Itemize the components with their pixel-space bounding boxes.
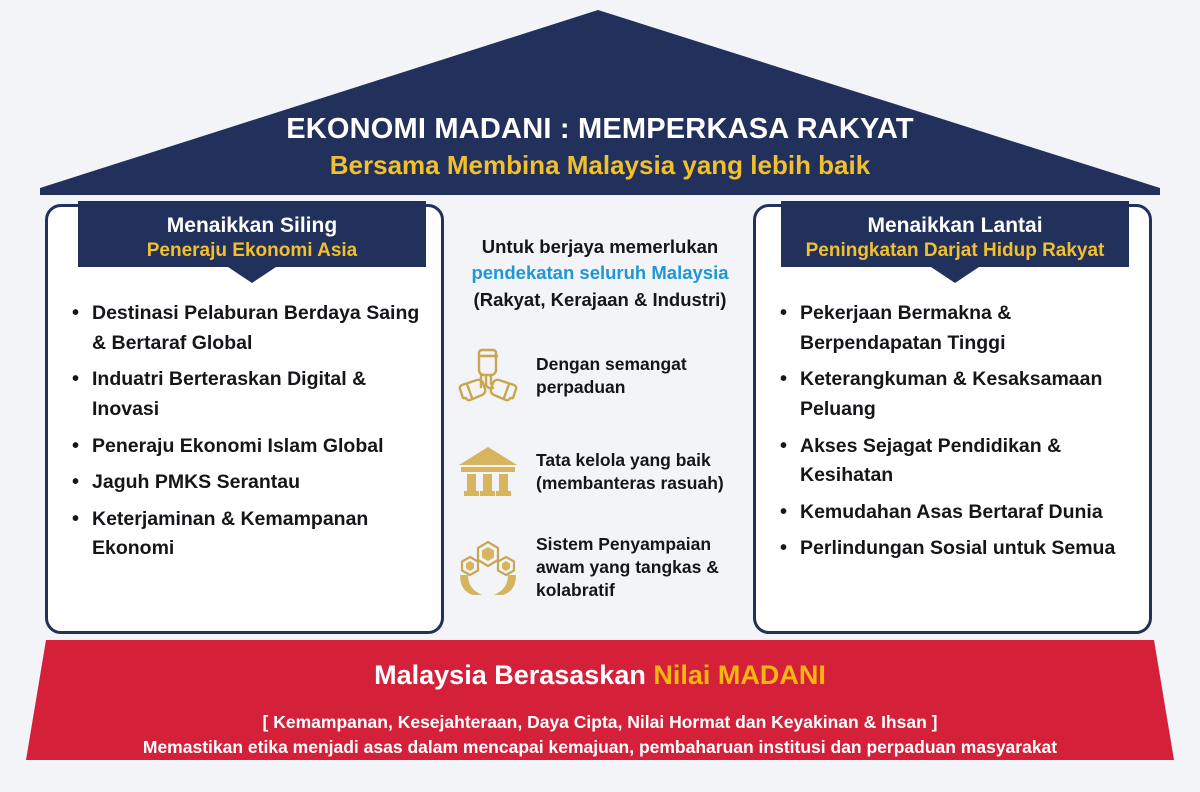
left-panel-list: Destinasi Pelaburan Berdaya Saing & Bert… xyxy=(70,299,433,571)
footer-banner: Malaysia Berasaskan Nilai MADANI [ Kemam… xyxy=(0,640,1200,792)
footer-values-line: [ Kemampanan, Kesejahteraan, Daya Cipta,… xyxy=(0,710,1200,735)
right-ribbon-subtitle: Peningkatan Darjat Hidup Rakyat xyxy=(781,239,1129,264)
left-ribbon-text: Menaikkan Siling Peneraju Ekonomi Asia xyxy=(78,213,426,264)
center-intro-line1: Untuk berjaya memerlukan xyxy=(452,234,748,260)
left-ribbon-title: Menaikkan Siling xyxy=(78,213,426,239)
list-item: Keterangkuman & Kesaksamaan Peluang xyxy=(778,365,1141,424)
roof-banner: EKONOMI MADANI : MEMPERKASA RAKYAT Bersa… xyxy=(0,0,1200,200)
hands-holding-hexagons-icon xyxy=(452,533,524,603)
right-ribbon: Menaikkan Lantai Peningkatan Darjat Hidu… xyxy=(781,201,1129,285)
center-item-label: Tata kelola yang baik (membanteras rasua… xyxy=(536,449,748,496)
center-item-perpaduan: Dengan semangat perpaduan xyxy=(452,339,748,413)
list-item: Akses Sejagat Pendidikan & Kesihatan xyxy=(778,432,1141,491)
center-items-list: Dengan semangat perpaduan Tata ke xyxy=(452,339,748,605)
center-intro-line2: pendekatan seluruh Malaysia xyxy=(452,260,748,286)
center-column: Untuk berjaya memerlukan pendekatan selu… xyxy=(452,234,748,627)
joined-hands-icon xyxy=(452,341,524,411)
list-item: Pekerjaan Bermakna & Berpendapatan Tingg… xyxy=(778,299,1141,358)
footer-title-plain: Malaysia Berasaskan xyxy=(374,660,653,690)
right-ribbon-text: Menaikkan Lantai Peningkatan Darjat Hidu… xyxy=(781,213,1129,264)
left-ribbon: Menaikkan Siling Peneraju Ekonomi Asia xyxy=(78,201,426,285)
list-item: Peneraju Ekonomi Islam Global xyxy=(70,432,433,462)
roof-shape xyxy=(0,0,1200,200)
center-item-sistem-penyampaian: Sistem Penyampaian awam yang tangkas & k… xyxy=(452,531,748,605)
list-item: Jaguh PMKS Serantau xyxy=(70,468,433,498)
infographic-poster: EKONOMI MADANI : MEMPERKASA RAKYAT Bersa… xyxy=(0,0,1200,792)
left-ribbon-subtitle: Peneraju Ekonomi Asia xyxy=(78,239,426,264)
list-item: Induatri Berteraskan Digital & Inovasi xyxy=(70,365,433,424)
footer-title-gold: Nilai MADANI xyxy=(653,660,826,690)
list-item: Kemudahan Asas Bertaraf Dunia xyxy=(778,498,1141,528)
list-item: Perlindungan Sosial untuk Semua xyxy=(778,534,1141,564)
right-panel-list: Pekerjaan Bermakna & Berpendapatan Tingg… xyxy=(778,299,1141,571)
list-item: Keterjaminan & Kemampanan Ekonomi xyxy=(70,505,433,564)
footer-text-block: Malaysia Berasaskan Nilai MADANI [ Kemam… xyxy=(0,658,1200,761)
list-item: Destinasi Pelaburan Berdaya Saing & Bert… xyxy=(70,299,433,358)
center-intro-line3: (Rakyat, Kerajaan & Industri) xyxy=(452,287,748,313)
center-intro-text: Untuk berjaya memerlukan pendekatan selu… xyxy=(452,234,748,313)
right-ribbon-title: Menaikkan Lantai xyxy=(781,213,1129,239)
footer-statement-line: Memastikan etika menjadi asas dalam menc… xyxy=(0,735,1200,760)
center-item-label: Dengan semangat perpaduan xyxy=(536,353,748,400)
center-item-label: Sistem Penyampaian awam yang tangkas & k… xyxy=(536,533,748,603)
panel-menaikkan-lantai: Menaikkan Lantai Peningkatan Darjat Hidu… xyxy=(753,204,1152,634)
center-item-tata-kelola: Tata kelola yang baik (membanteras rasua… xyxy=(452,435,748,509)
panel-menaikkan-siling: Menaikkan Siling Peneraju Ekonomi Asia D… xyxy=(45,204,444,634)
footer-title: Malaysia Berasaskan Nilai MADANI xyxy=(0,658,1200,693)
government-building-icon xyxy=(452,437,524,507)
